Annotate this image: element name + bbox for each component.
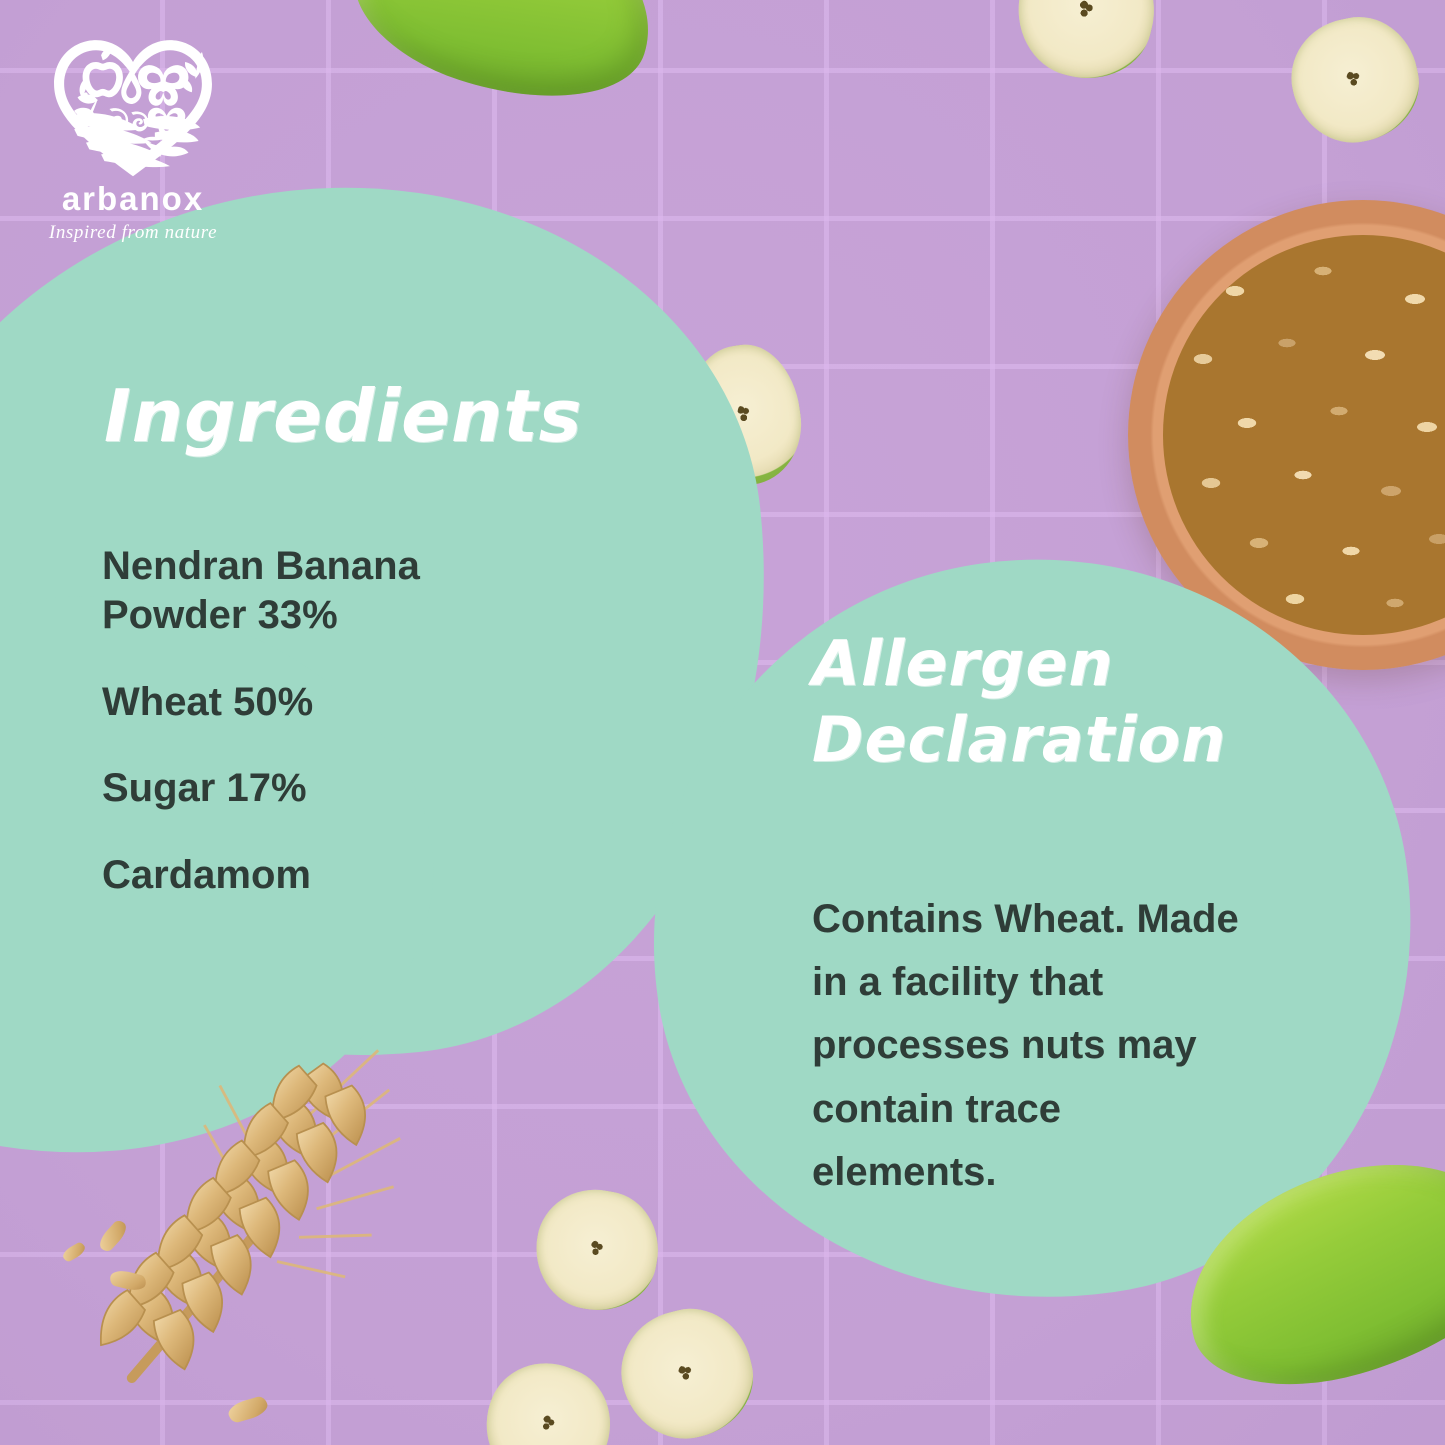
ingredient-item: Sugar 17% [102,764,562,813]
brand-logo: arbanox Inspired from nature [28,28,238,244]
allergen-title-line-1: Allergen [812,626,1332,702]
allergen-title: Allergen Declaration [812,626,1332,777]
ingredients-title: Ingredients [104,378,583,454]
ingredients-list: Nendran Banana Powder 33% Wheat 50% Suga… [102,542,562,900]
wheat-stalk-bottom-left-icon [90,1040,420,1395]
brand-name: arbanox [28,182,238,215]
ingredient-item: Nendran Banana Powder 33% [102,542,562,640]
allergen-declaration-text: Contains Wheat. Made in a facility that … [812,888,1242,1204]
ingredient-item: Wheat 50% [102,678,562,727]
allergen-title-line-2: Declaration [812,702,1332,778]
brand-tagline: Inspired from nature [28,222,238,244]
nature-heart-logo-icon [49,28,217,180]
ingredient-item: Cardamom [102,851,562,900]
product-info-poster: arbanox Inspired from nature Ingredients… [0,0,1445,1445]
wheat-grains-fill [1163,235,1445,635]
